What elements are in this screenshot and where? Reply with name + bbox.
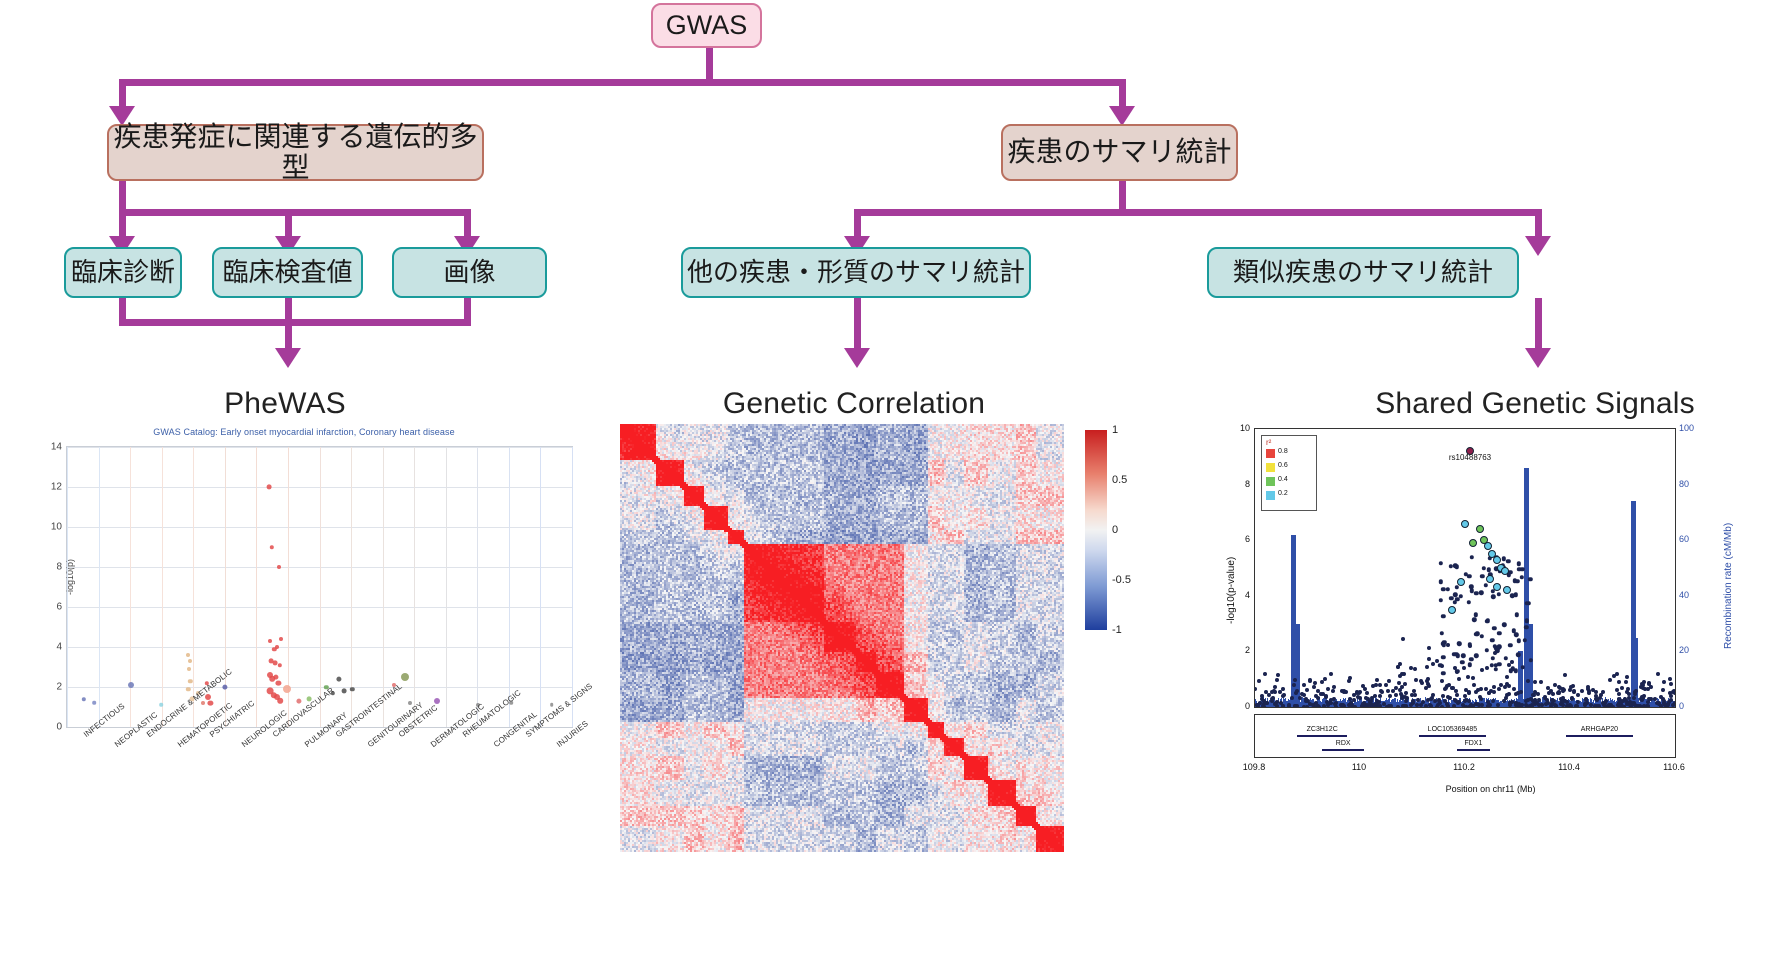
phewas-point — [92, 701, 96, 705]
phewas-gridline-v — [540, 447, 541, 727]
locuszoom-point — [1457, 700, 1461, 704]
node-imaging[interactable]: 画像 — [392, 247, 547, 298]
locuszoom-point — [1471, 704, 1475, 708]
locuszoom-point — [1584, 697, 1588, 701]
locuszoom-point — [1633, 692, 1637, 696]
figure-genetic-correlation: 10.50-0.5-1 — [620, 424, 1180, 854]
locuszoom-point — [1501, 567, 1509, 575]
locuszoom-point — [1595, 698, 1599, 702]
genetic-correlation-colorbar — [1085, 430, 1107, 630]
phewas-point — [188, 679, 192, 683]
locuszoom-point — [1388, 694, 1392, 698]
locuszoom-point — [1576, 693, 1580, 697]
phewas-chart-title: GWAS Catalog: Early onset myocardial inf… — [14, 427, 594, 437]
locuszoom-legend-label: 0.8 — [1278, 448, 1288, 455]
locuszoom-point — [1270, 690, 1274, 694]
locuszoom-point — [1587, 689, 1591, 693]
node-disease-associated-variants[interactable]: 疾患発症に関連する遺伝的多型 — [107, 124, 484, 181]
locuszoom-point — [1479, 591, 1483, 595]
locuszoom-point — [1424, 686, 1428, 690]
phewas-point — [283, 685, 291, 693]
locuszoom-point — [1508, 643, 1512, 647]
locuszoom-point — [1474, 690, 1478, 694]
phewas-gridline-v — [477, 447, 478, 727]
locuszoom-point — [1497, 687, 1501, 691]
locuszoom-point — [1639, 685, 1643, 689]
locuszoom-point — [1361, 702, 1365, 706]
locuszoom-point — [1295, 689, 1299, 693]
phewas-gridline-v — [256, 447, 257, 727]
locuszoom-point — [1396, 705, 1400, 708]
phewas-gridline-v — [351, 447, 352, 727]
locuszoom-point — [1414, 678, 1418, 682]
locuszoom-point — [1595, 704, 1599, 708]
locuszoom-point — [1626, 687, 1630, 691]
locuszoom-point — [1379, 689, 1383, 693]
locuszoom-point — [1461, 520, 1469, 528]
node-gwas[interactable]: GWAS — [651, 3, 762, 48]
locuszoom-point — [1494, 667, 1498, 671]
locuszoom-point — [1572, 690, 1576, 694]
locuszoom-gene-label: ZC3H12C — [1307, 726, 1338, 733]
locuszoom-point — [1662, 680, 1666, 684]
locuszoom-point — [1419, 679, 1423, 683]
locuszoom-point — [1528, 577, 1532, 581]
phewas-y-tick: 8 — [56, 562, 62, 573]
locuszoom-point — [1264, 690, 1268, 694]
panel-title-shared-genetic-signals: Shared Genetic Signals — [1355, 387, 1715, 421]
node-similar-disease-summary-statistics-label: 類似疾患のサマリ統計 — [1233, 258, 1493, 287]
locuszoom-point — [1594, 690, 1598, 694]
locuszoom-point — [1400, 685, 1404, 689]
locuszoom-point — [1412, 689, 1416, 693]
locuszoom-point — [1591, 688, 1595, 692]
locuszoom-point — [1394, 693, 1398, 697]
locuszoom-point — [1666, 703, 1670, 707]
locuszoom-point — [1467, 662, 1471, 666]
locuszoom-y-tick-right: 40 — [1679, 590, 1689, 600]
locuszoom-legend-label: 0.2 — [1278, 490, 1288, 497]
locuszoom-point — [1497, 592, 1501, 596]
locuszoom-point — [1451, 686, 1455, 690]
locuszoom-point — [1287, 703, 1291, 707]
locuszoom-point — [1643, 687, 1647, 691]
figure-locuszoom: rs10488763 r² 0.80.60.40.2 0246810 02040… — [1218, 424, 1763, 824]
phewas-y-tick: 12 — [51, 482, 62, 493]
locuszoom-point — [1484, 542, 1492, 550]
locuszoom-point — [1659, 704, 1663, 708]
locuszoom-point — [1563, 673, 1567, 677]
locuszoom-point — [1403, 695, 1407, 699]
locuszoom-point — [1263, 672, 1267, 676]
locuszoom-x-tick: 109.8 — [1243, 762, 1266, 772]
connector-l2left-drop-3 — [464, 209, 471, 239]
phewas-point — [401, 673, 409, 681]
locuszoom-point — [1624, 680, 1628, 684]
locuszoom-x-tick: 110.2 — [1453, 762, 1475, 772]
figure-phewas: GWAS Catalog: Early onset myocardial inf… — [14, 424, 594, 824]
node-similar-disease-summary-statistics[interactable]: 類似疾患のサマリ統計 — [1207, 247, 1519, 298]
locuszoom-point — [1486, 704, 1490, 708]
locuszoom-point — [1484, 583, 1488, 587]
node-other-trait-summary-statistics-label: 他の疾患・形質のサマリ統計 — [687, 258, 1025, 287]
locuszoom-point — [1373, 694, 1377, 698]
locuszoom-point — [1440, 679, 1444, 683]
locuszoom-point — [1401, 637, 1405, 641]
colorbar-tick: 1 — [1112, 424, 1118, 436]
locuszoom-gene-bar — [1419, 735, 1486, 737]
locuszoom-point — [1375, 678, 1379, 682]
locuszoom-point — [1589, 703, 1593, 707]
locuszoom-point — [1292, 683, 1296, 687]
locuszoom-point — [1426, 698, 1430, 702]
locuszoom-point — [1305, 705, 1309, 708]
node-clinical-diagnosis[interactable]: 臨床診断 — [64, 247, 182, 298]
locuszoom-gene-bar — [1322, 749, 1364, 751]
locuszoom-point — [1485, 648, 1489, 652]
arrow-l2right-to-similar-disease — [1525, 236, 1551, 256]
phewas-gridline-v — [320, 447, 321, 727]
locuszoom-point — [1441, 614, 1445, 618]
phewas-point — [186, 687, 190, 691]
locuszoom-gene-label: FDX1 — [1464, 740, 1482, 747]
locuszoom-y-tick-left: 2 — [1226, 645, 1250, 655]
node-disease-summary-statistics-label: 疾患のサマリ統計 — [1007, 137, 1231, 168]
locuszoom-point — [1477, 703, 1481, 707]
locuszoom-point — [1514, 632, 1518, 636]
locuszoom-point — [1515, 579, 1519, 583]
locuszoom-point — [1487, 568, 1491, 572]
locuszoom-point — [1623, 697, 1627, 701]
locuszoom-point — [1352, 698, 1356, 702]
phewas-point — [208, 700, 213, 705]
locuszoom-right-axis-label: Recombination rate (cM/Mb) — [1723, 523, 1734, 649]
connector-root-bus — [119, 79, 1126, 86]
node-disease-summary-statistics[interactable]: 疾患のサマリ統計 — [1001, 124, 1238, 181]
locuszoom-point — [1551, 692, 1555, 696]
colorbar-tick: -1 — [1112, 624, 1122, 636]
locuszoom-point — [1466, 675, 1470, 679]
locuszoom-point — [1460, 660, 1464, 664]
locuszoom-point — [1419, 703, 1423, 707]
locuszoom-point — [1378, 683, 1382, 687]
genetic-correlation-heatmap — [620, 424, 1064, 852]
locuszoom-point — [1490, 638, 1494, 642]
locuszoom-point — [1492, 626, 1496, 630]
locuszoom-point — [1669, 694, 1673, 698]
locuszoom-point — [1255, 703, 1259, 707]
locuszoom-legend-label: 0.6 — [1278, 462, 1288, 469]
phewas-gridline-v — [67, 447, 68, 727]
locuszoom-y-tick-left: 10 — [1226, 423, 1250, 433]
locuszoom-point — [1549, 704, 1553, 708]
locuszoom-gene-bar — [1297, 735, 1347, 737]
node-other-trait-summary-statistics[interactable]: 他の疾患・形質のサマリ統計 — [681, 247, 1031, 298]
locuszoom-point — [1427, 646, 1431, 650]
connector-root-to-l2-left — [119, 79, 126, 108]
locuszoom-point — [1290, 696, 1294, 700]
locuszoom-point — [1491, 595, 1495, 599]
locuszoom-point — [1533, 680, 1537, 684]
locuszoom-point — [1580, 689, 1584, 693]
locuszoom-left-axis-label: -log10(p-value) — [1226, 557, 1237, 624]
locuszoom-point — [1476, 525, 1484, 533]
locuszoom-point — [1557, 691, 1561, 695]
locuszoom-y-tick-right: 60 — [1679, 534, 1689, 544]
locuszoom-point — [1308, 679, 1312, 683]
phewas-point — [82, 697, 86, 701]
locuszoom-point — [1486, 575, 1494, 583]
locuszoom-point — [1479, 687, 1483, 691]
locuszoom-legend-title: r² — [1266, 438, 1271, 447]
locuszoom-point — [1649, 685, 1653, 689]
locuszoom-point — [1517, 704, 1521, 708]
locuszoom-point — [1441, 694, 1445, 698]
locuszoom-point — [1348, 676, 1352, 680]
locuszoom-point — [1464, 698, 1468, 702]
locuszoom-point — [1539, 680, 1543, 684]
locuszoom-gene-label: RDX — [1336, 740, 1351, 747]
locuszoom-point — [1570, 696, 1574, 700]
locuszoom-point — [1270, 697, 1274, 701]
locuszoom-point — [1509, 669, 1513, 673]
locuszoom-point — [1298, 696, 1302, 700]
locuszoom-point — [1517, 638, 1521, 642]
locuszoom-point — [1342, 690, 1346, 694]
locuszoom-point — [1358, 690, 1362, 694]
locuszoom-gene-bar — [1457, 749, 1491, 751]
node-clinical-diagnosis-label: 臨床診断 — [71, 258, 175, 287]
locuszoom-point — [1615, 688, 1619, 692]
locuszoom-point — [1469, 555, 1473, 559]
phewas-point — [297, 698, 302, 703]
locuszoom-point — [1446, 643, 1450, 647]
locuszoom-point — [1444, 686, 1448, 690]
connector-l2right-drop-1 — [854, 209, 861, 239]
locuszoom-point — [1378, 694, 1382, 698]
locuszoom-point — [1320, 680, 1324, 684]
locuszoom-point — [1329, 672, 1333, 676]
locuszoom-point — [1553, 683, 1557, 687]
phewas-point — [223, 684, 228, 689]
locuszoom-x-axis-label: Position on chr11 (Mb) — [1218, 784, 1763, 794]
locuszoom-point — [1316, 704, 1320, 708]
phewas-point — [550, 703, 554, 707]
arrow-to-phewas — [275, 348, 301, 368]
panel-title-genetic-correlation: Genetic Correlation — [704, 387, 1004, 421]
arrow-to-shared-signals — [1525, 348, 1551, 368]
locuszoom-point — [1493, 556, 1501, 564]
phewas-point — [276, 680, 281, 685]
connector-to-shared-signals — [1535, 298, 1542, 351]
locuszoom-point — [1642, 680, 1646, 684]
locuszoom-point — [1617, 680, 1621, 684]
locuszoom-point — [1431, 693, 1435, 697]
locuszoom-gene-label: LOC105369485 — [1428, 726, 1477, 733]
locuszoom-point — [1311, 703, 1315, 707]
locuszoom-point — [1281, 687, 1285, 691]
locuszoom-point — [1365, 691, 1369, 695]
locuszoom-y-tick-right: 20 — [1679, 645, 1689, 655]
locuszoom-point — [1517, 562, 1521, 566]
locuszoom-point — [1293, 678, 1297, 682]
locuszoom-point — [1672, 689, 1676, 693]
locuszoom-point — [1472, 617, 1476, 621]
locuszoom-point — [1441, 655, 1445, 659]
locuszoom-point — [1673, 701, 1676, 705]
locuszoom-point — [1608, 678, 1612, 682]
locuszoom-point — [1474, 654, 1478, 658]
locuszoom-point — [1334, 705, 1338, 708]
locuszoom-gene-bar — [1566, 735, 1633, 737]
locuszoom-point — [1409, 666, 1413, 670]
locuszoom-point — [1559, 702, 1563, 706]
phewas-point — [268, 639, 272, 643]
locuszoom-point — [1352, 705, 1356, 708]
locuszoom-point — [1458, 594, 1462, 598]
locuszoom-point — [1482, 566, 1486, 570]
locuszoom-point — [1348, 697, 1352, 701]
locuszoom-point — [1625, 675, 1629, 679]
locuszoom-point — [1656, 672, 1660, 676]
locuszoom-point — [1526, 698, 1530, 702]
locuszoom-point — [1497, 631, 1501, 635]
node-imaging-label: 画像 — [443, 258, 495, 287]
locuszoom-point — [1385, 705, 1389, 708]
locuszoom-point — [1324, 695, 1328, 699]
locuszoom-y-tick-left: 8 — [1226, 479, 1250, 489]
locuszoom-point — [1457, 578, 1465, 586]
locuszoom-point — [1429, 704, 1433, 708]
phewas-point — [278, 663, 282, 667]
phewas-point — [408, 701, 412, 705]
locuszoom-y-tick-right: 100 — [1679, 423, 1694, 433]
phewas-point — [186, 653, 190, 657]
locuszoom-point — [1620, 686, 1624, 690]
locuszoom-point — [1491, 699, 1495, 703]
locuszoom-y-tick-right: 80 — [1679, 479, 1689, 489]
connector-l2left-drop-2 — [285, 209, 292, 239]
locuszoom-point — [1535, 701, 1539, 705]
locuszoom-point — [1316, 689, 1320, 693]
node-clinical-lab-values[interactable]: 臨床検査値 — [212, 247, 363, 298]
locuszoom-point — [1455, 564, 1459, 568]
locuszoom-point — [1480, 634, 1484, 638]
phewas-point — [279, 637, 283, 641]
phewas-gridline-v — [446, 447, 447, 727]
locuszoom-point — [1669, 682, 1673, 686]
locuszoom-point — [1455, 693, 1459, 697]
locuszoom-point — [1387, 679, 1391, 683]
locuszoom-point — [1416, 698, 1420, 702]
locuszoom-lead-snp-label: rs10488763 — [1449, 453, 1491, 462]
phewas-gridline-v — [414, 447, 415, 727]
locuszoom-point — [1425, 665, 1429, 669]
locuszoom-point — [1497, 662, 1501, 666]
locuszoom-point — [1505, 675, 1509, 679]
locuszoom-point — [1424, 704, 1428, 708]
locuszoom-point — [1457, 642, 1461, 646]
locuszoom-legend-swatch — [1266, 491, 1275, 500]
locuszoom-point — [1305, 688, 1309, 692]
locuszoom-point — [1322, 705, 1326, 708]
locuszoom-gene-label: ARHGAP20 — [1581, 726, 1618, 733]
locuszoom-point — [1471, 676, 1475, 680]
connector-l2right-stem — [1119, 180, 1126, 212]
locuszoom-point — [1265, 701, 1269, 705]
phewas-point — [336, 676, 341, 681]
locuszoom-point — [1435, 705, 1439, 708]
locuszoom-point — [1427, 657, 1431, 661]
phewas-point — [278, 698, 284, 704]
locuszoom-point — [1503, 685, 1507, 689]
phewas-y-tick: 4 — [56, 642, 62, 653]
locuszoom-point — [1473, 612, 1477, 616]
locuszoom-point — [1276, 673, 1280, 677]
locuszoom-point — [1659, 695, 1663, 699]
locuszoom-point — [1490, 656, 1494, 660]
locuszoom-point — [1374, 702, 1378, 706]
locuszoom-point — [1391, 689, 1395, 693]
connector-root-stem — [706, 46, 713, 82]
locuszoom-y-tick-left: 0 — [1226, 701, 1250, 711]
locuszoom-point — [1561, 687, 1565, 691]
locuszoom-point — [1453, 600, 1457, 604]
locuszoom-point — [1457, 677, 1461, 681]
locuszoom-point — [1469, 539, 1477, 547]
phewas-point — [434, 698, 440, 704]
arrow-to-genetic-correlation — [844, 348, 870, 368]
locuszoom-point — [1304, 697, 1308, 701]
locuszoom-recombination-bar — [1637, 638, 1638, 708]
locuszoom-point — [1480, 668, 1484, 672]
locuszoom-legend-swatch — [1266, 477, 1275, 486]
phewas-y-tick: 10 — [51, 522, 62, 533]
locuszoom-point — [1487, 691, 1491, 695]
locuszoom-point — [1445, 702, 1449, 706]
locuszoom-point — [1478, 695, 1482, 699]
phewas-gridline-v — [509, 447, 510, 727]
colorbar-tick: 0.5 — [1112, 474, 1127, 486]
locuszoom-point — [1506, 559, 1510, 563]
locuszoom-point — [1369, 702, 1373, 706]
locuszoom-point — [1631, 702, 1635, 706]
locuszoom-point — [1313, 681, 1317, 685]
connector-to-genetic-correlation — [854, 298, 861, 351]
locuszoom-point — [1642, 694, 1646, 698]
locuszoom-point — [1329, 701, 1333, 705]
locuszoom-point — [1510, 700, 1514, 704]
locuszoom-point — [1505, 693, 1509, 697]
connector-l2right-drop-2 — [1535, 209, 1542, 239]
locuszoom-point — [1599, 693, 1603, 697]
locuszoom-point — [1431, 662, 1435, 666]
locuszoom-legend-swatch — [1266, 463, 1275, 472]
locuszoom-point — [1334, 701, 1338, 705]
connector-l2left-drop-1 — [119, 209, 126, 239]
phewas-point — [187, 667, 191, 671]
locuszoom-point — [1493, 583, 1501, 591]
connector-l2left-stem — [119, 180, 126, 212]
locuszoom-point — [1275, 704, 1279, 708]
locuszoom-point — [1314, 694, 1318, 698]
locuszoom-point — [1448, 696, 1452, 700]
locuszoom-point — [1510, 593, 1514, 597]
locuszoom-point — [1641, 705, 1645, 708]
phewas-gridline-v — [193, 447, 194, 727]
locuszoom-point — [1611, 705, 1615, 708]
locuszoom-point — [1503, 656, 1507, 660]
